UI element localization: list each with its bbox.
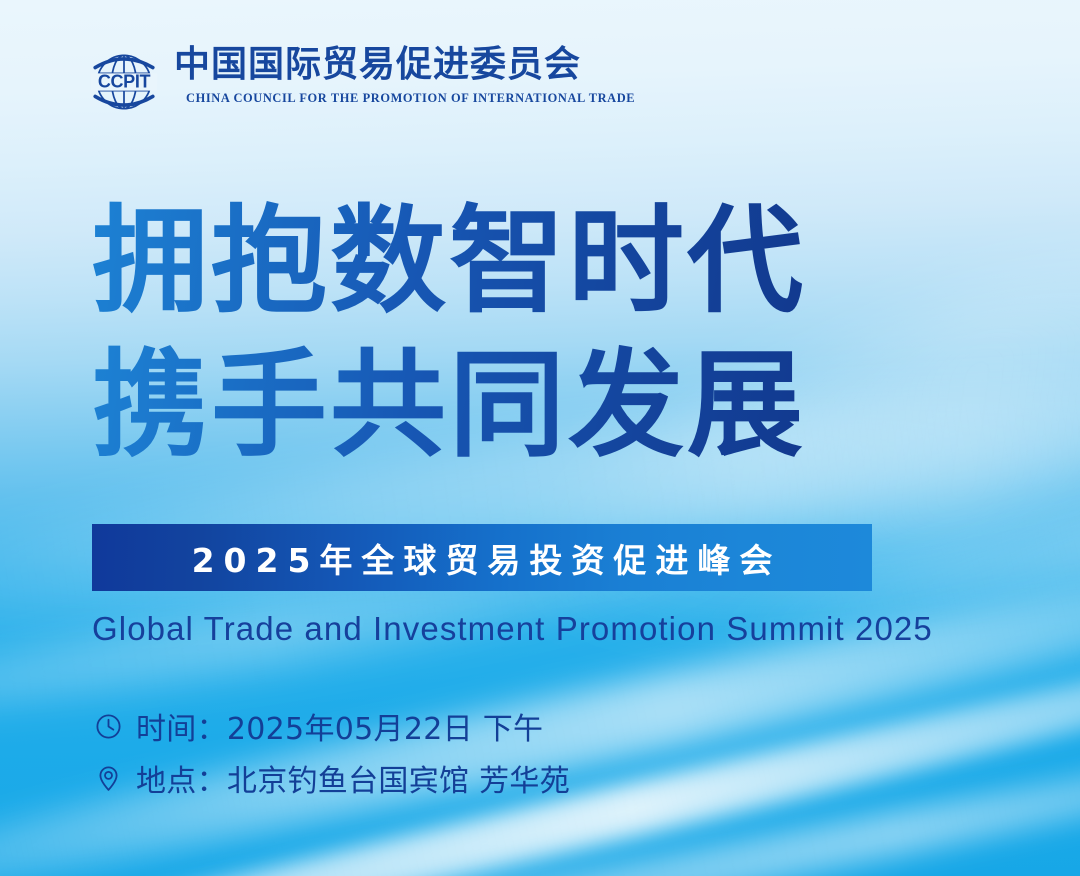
org-name-cn: 中国国际贸易促进委员会 [174,44,635,86]
headline-line-2: 携手共同发展 [92,334,992,478]
ccpit-logo-text: 中国国际贸易促进委员会 CHINA COUNCIL FOR THE PROMOT… [174,44,635,106]
event-title-en: Global Trade and Investment Promotion Su… [92,610,933,648]
event-details-list: 时间：2025年05月22日 下午 地点：北京钓鱼台国宾馆 芳华苑 [94,700,570,804]
ccpit-logo-block: CCPIT 中国国际贸易促进委员会 CHINA COUNCIL FOR THE … [88,44,635,118]
map-pin-icon [94,764,123,793]
headline-line-1: 拥抱数智时代 [92,190,992,334]
ccpit-globe-logo-icon: CCPIT [88,46,160,118]
event-title-banner: 2025年全球贸易投资促进峰会 [92,524,872,591]
page-title: 拥抱数智时代 携手共同发展 [92,190,992,478]
svg-text:CCPIT: CCPIT [98,71,151,91]
org-name-en: CHINA COUNCIL FOR THE PROMOTION OF INTER… [186,91,635,106]
clock-icon [94,712,123,741]
event-title-cn: 2025年全球贸易投资促进峰会 [183,534,782,582]
event-location-row: 地点：北京钓鱼台国宾馆 芳华苑 [94,752,570,804]
event-time-row: 时间：2025年05月22日 下午 [94,700,570,752]
event-time-text: 时间：2025年05月22日 下午 [136,704,543,748]
event-poster: CCPIT 中国国际贸易促进委员会 CHINA COUNCIL FOR THE … [0,0,1080,876]
event-location-text: 地点：北京钓鱼台国宾馆 芳华苑 [136,756,570,800]
